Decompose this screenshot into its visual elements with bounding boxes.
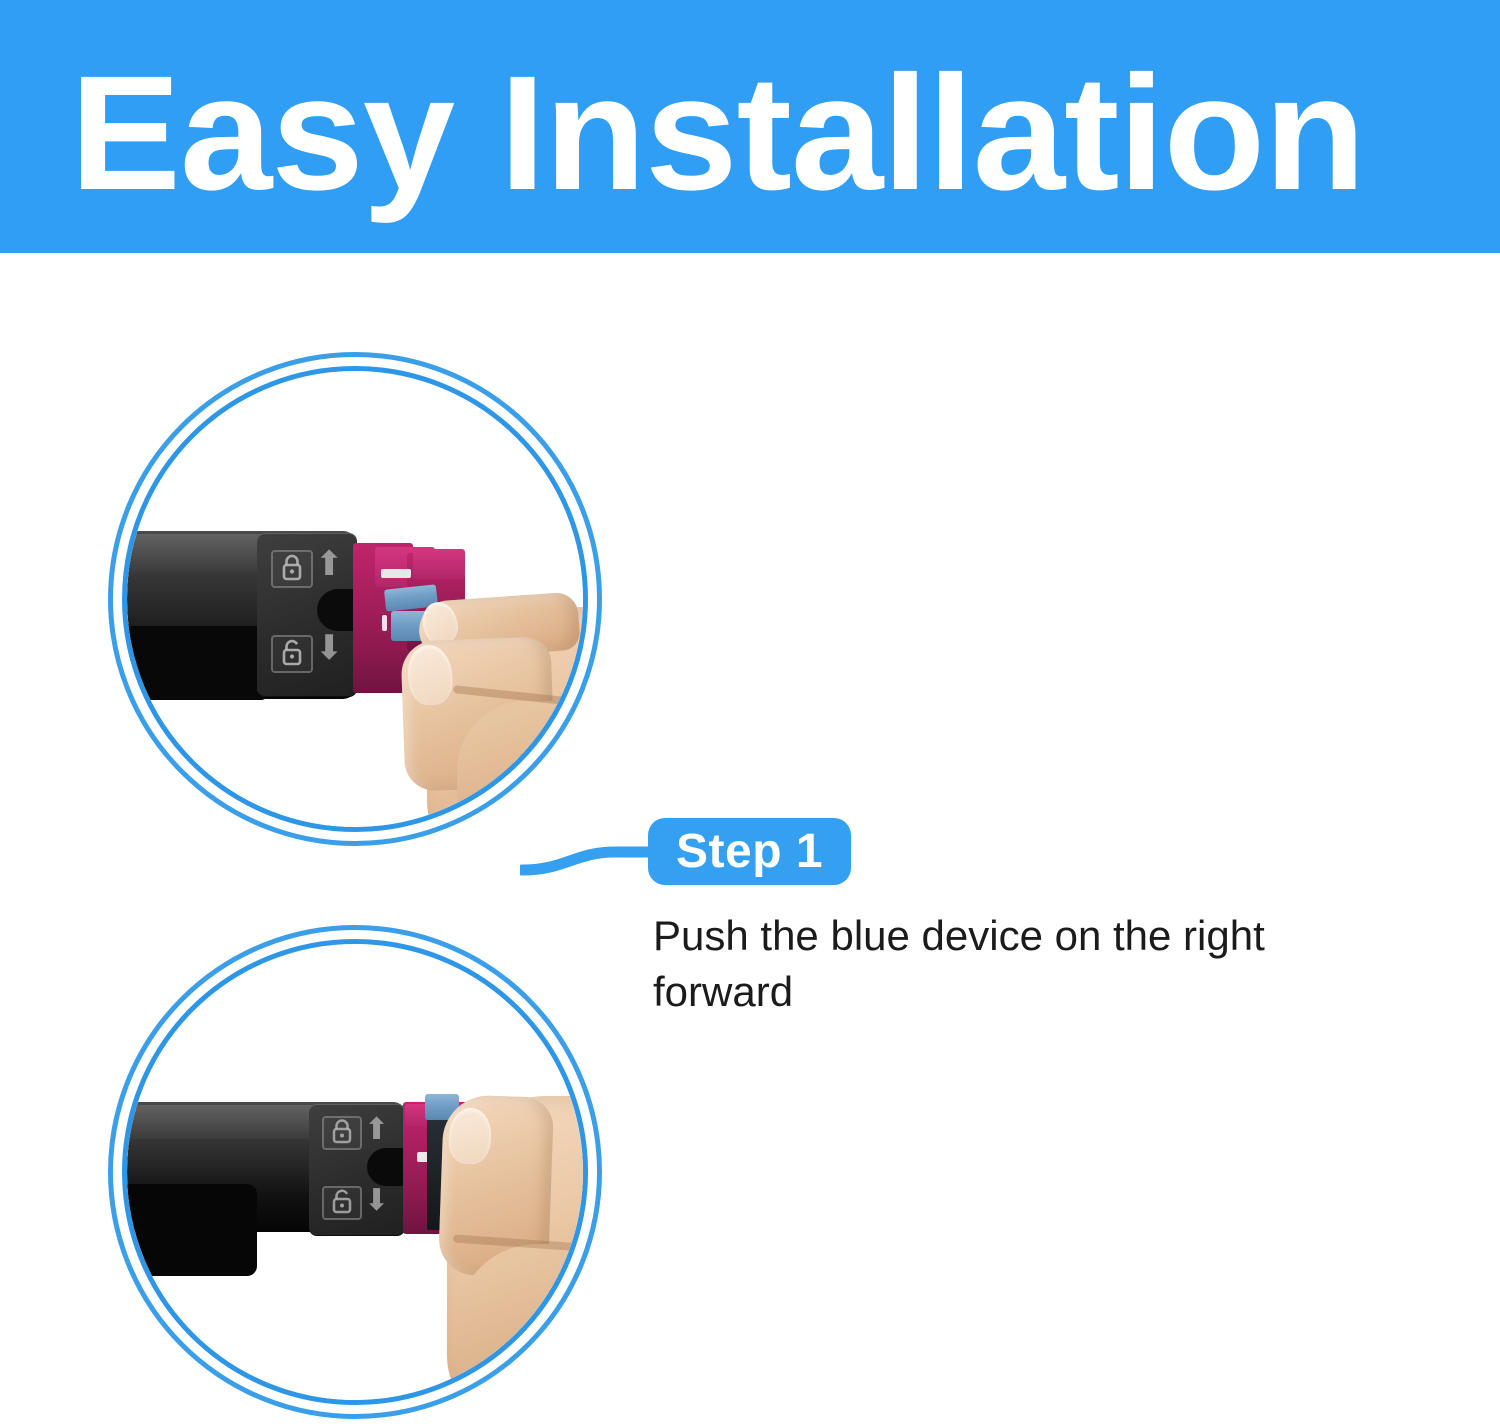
step-1-badge: Step 1: [648, 818, 851, 885]
cartridge-illustration-1: ⬆ ⬇: [127, 371, 583, 827]
arrow-up-icon: ⬆: [364, 1113, 389, 1147]
cartridge-black-lower-notch: [127, 626, 269, 700]
page-title: Easy Installation: [70, 50, 1498, 215]
step-2-photo-ring-inner: ⬆ ⬇: [122, 939, 588, 1405]
installation-instructions-page: Easy Installation: [0, 0, 1500, 1427]
padlock-closed-icon: [271, 550, 313, 588]
step-block-1: ⬆ ⬇: [0, 330, 1500, 860]
cartridge-white-marker: [381, 569, 411, 578]
lock-indicator-plate: ⬆ ⬇: [257, 533, 357, 697]
cartridge-illustration-2: ⬆ ⬇: [127, 944, 583, 1400]
arrow-up-icon: ⬆: [315, 547, 344, 581]
step-1-photo-circle: ⬆ ⬇: [108, 352, 602, 846]
step-1-photo: ⬆ ⬇: [127, 371, 583, 827]
step-block-2: ⬆ ⬇: [0, 903, 1500, 1427]
padlock-closed-icon: [322, 1116, 362, 1150]
cartridge-black-lower-notch: [127, 1184, 257, 1276]
grip-groove: [367, 1148, 405, 1186]
grip-groove: [317, 589, 357, 631]
header-banner: Easy Installation: [0, 0, 1500, 253]
arrow-down-icon: ⬇: [364, 1184, 389, 1218]
cartridge-white-pin: [382, 615, 387, 631]
arrow-down-icon: ⬇: [315, 631, 344, 665]
lock-indicator-plate: ⬆ ⬇: [309, 1104, 405, 1236]
step-2-photo: ⬆ ⬇: [127, 944, 583, 1400]
step-1-photo-ring-inner: ⬆ ⬇: [122, 366, 588, 832]
step-2-photo-circle: ⬆ ⬇: [108, 925, 602, 1419]
cartridge-magenta-ridge-2: [413, 549, 465, 579]
padlock-open-icon: [271, 635, 313, 673]
padlock-open-icon: [322, 1186, 362, 1220]
